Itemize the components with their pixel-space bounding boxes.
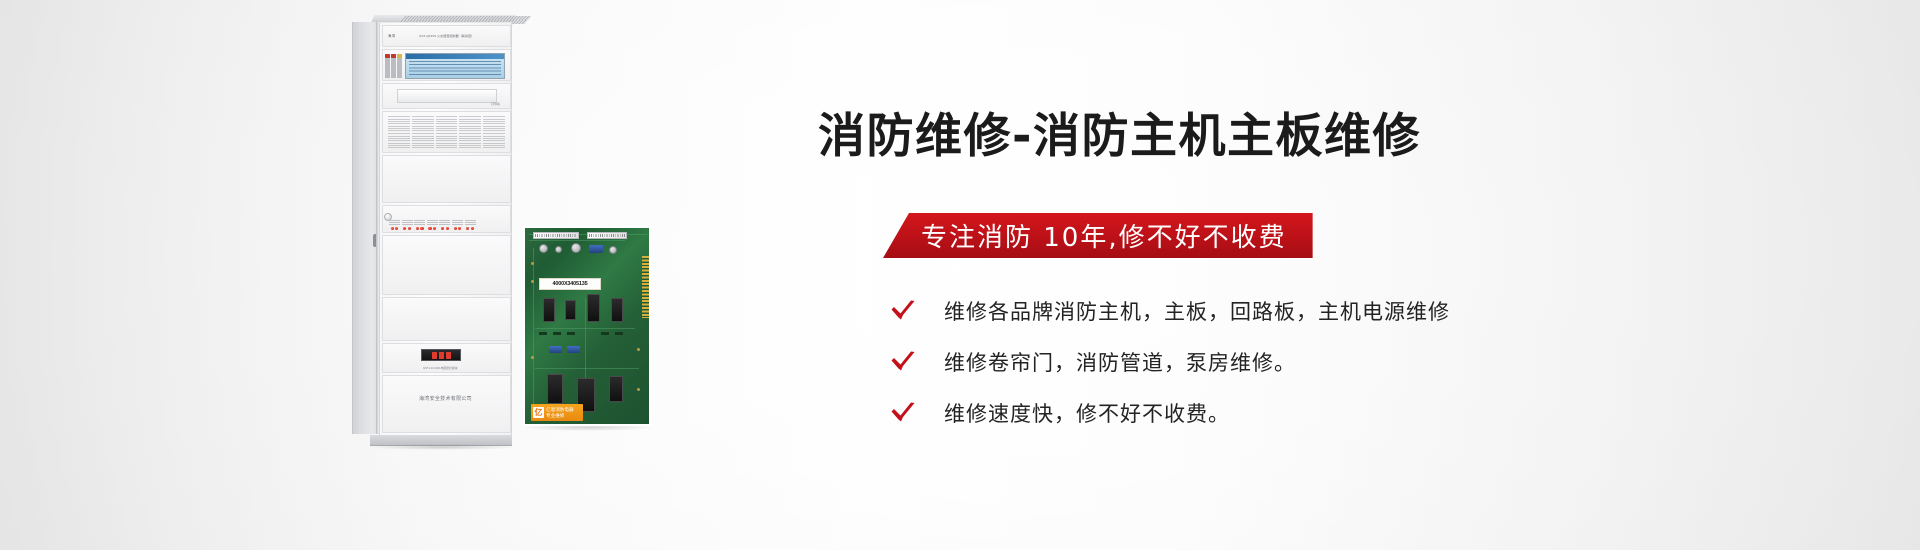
led-group: [439, 220, 450, 230]
cabinet-brand-module: 海湾 GST-QKP01 火灾报警控制器（联动型）: [382, 25, 511, 47]
cabinet-led-indicator-module: [382, 205, 511, 233]
fire-alarm-mainboard-image: 4000X3405135 亿 亿恩消防电器 专业维修: [523, 226, 651, 426]
led-lamp: [416, 227, 419, 230]
pcb-trace: [533, 248, 534, 408]
cabinet-blank-module: [382, 235, 511, 295]
feature-list: 维修各品牌消防主机，主板，回路板，主机电源维修 维修卷帘门，消防管道，泵房维修。…: [890, 296, 1650, 428]
zone-row: [412, 126, 434, 128]
led-pair: [428, 227, 436, 230]
led-group-label: [427, 220, 438, 226]
page-title: 消防维修-消防主机主板维修: [818, 97, 1421, 166]
keypad-key: [391, 70, 396, 74]
pcb-ic-chip: [543, 298, 555, 322]
zone-row: [412, 123, 434, 125]
zone-row: [388, 133, 410, 135]
zone-row: [412, 119, 434, 121]
led-lamp: [454, 227, 457, 230]
zone-row: [436, 116, 458, 118]
keypad-key: [391, 62, 396, 66]
pcb-blue-capacitor: [589, 245, 603, 253]
pcb-solder-pad: [531, 280, 534, 283]
digit-segment: [446, 352, 451, 359]
list-item-label: 维修卷帘门，消防管道，泵房维修。: [944, 347, 1296, 377]
zone-row: [459, 130, 481, 132]
led-indicator-row: [389, 210, 506, 230]
power-module-label: GST-LD-KZ01电源监控模块: [423, 366, 458, 370]
pcb-blue-capacitor: [567, 346, 580, 353]
zone-row: [459, 123, 481, 125]
zone-row: [459, 143, 481, 145]
pcb-resistor: [601, 332, 609, 335]
zone-row: [459, 116, 481, 118]
keypad-key: [391, 74, 396, 78]
zone-row: [459, 126, 481, 128]
led-group: [414, 220, 425, 230]
led-group: [402, 220, 413, 230]
pcb-resistor: [539, 332, 547, 335]
pcb-solder-pad: [637, 388, 640, 391]
cabinet-zone-module: [382, 111, 511, 153]
zone-row: [459, 119, 481, 121]
zone-row: [436, 147, 458, 149]
pcb-capacitor: [539, 244, 548, 253]
cabinet-printer-module: 打印机: [382, 83, 511, 109]
fire-alarm-control-cabinet-image: 海湾 GST-QKP01 火灾报警控制器（联动型）: [352, 14, 512, 444]
pcb-solder-pad: [531, 262, 534, 265]
led-lamp: [458, 227, 461, 230]
cabinet-blank-module: [382, 297, 511, 341]
zone-row: [459, 147, 481, 149]
led-pair: [416, 227, 424, 230]
led-lamp: [391, 227, 394, 230]
led-group: [452, 220, 463, 230]
zone-row: [483, 147, 505, 149]
led-group-label: [414, 220, 425, 226]
led-group-label: [439, 220, 450, 226]
zone-row: [388, 130, 410, 132]
zone-row: [483, 130, 505, 132]
keypad-key: [397, 58, 402, 62]
keypad-key: [397, 54, 402, 58]
zone-row: [436, 119, 458, 121]
list-item: 维修速度快，修不好不收费。: [890, 398, 1650, 428]
tagline-ribbon: 专注消防 10年,修不好不收费: [883, 213, 1313, 258]
promo-banner: 海湾 GST-QKP01 火灾报警控制器（联动型）: [0, 0, 1920, 550]
zone-row: [412, 130, 434, 132]
pcb-blue-capacitor: [549, 346, 562, 353]
led-lamp: [420, 227, 423, 230]
zone-row: [436, 140, 458, 142]
pcb-substrate: 4000X3405135 亿 亿恩消防电器 专业维修: [525, 228, 649, 424]
led-group-label: [402, 220, 413, 226]
zone-column: [459, 116, 481, 149]
led-lamp: [433, 227, 436, 230]
list-item-label: 维修速度快，修不好不收费。: [944, 398, 1230, 428]
cabinet-blank-module: [382, 155, 511, 203]
zone-row: [483, 126, 505, 128]
ribbon-text: 专注消防 10年,修不好不收费: [921, 217, 1287, 254]
zone-row: [436, 126, 458, 128]
pcb-capacitor: [555, 246, 562, 253]
zone-row: [459, 133, 481, 135]
keypad-key: [397, 74, 402, 78]
pcb-pin-header: [533, 232, 579, 239]
cabinet-front-panel: 海湾 GST-QKP01 火灾报警控制器（联动型）: [379, 22, 512, 437]
pcb-ic-chip: [587, 294, 600, 322]
digit-segment: [439, 352, 444, 359]
led-group: [465, 220, 476, 230]
zone-row: [483, 119, 505, 121]
printer-label: 打印机: [491, 102, 500, 106]
led-lamp: [395, 227, 398, 230]
zone-row: [483, 140, 505, 142]
zone-row: [483, 123, 505, 125]
zone-column: [483, 116, 505, 149]
zone-row: [388, 116, 410, 118]
check-icon: [890, 402, 916, 424]
led-lamp: [471, 227, 474, 230]
zone-row: [483, 133, 505, 135]
zone-row: [412, 136, 434, 138]
led-pair: [466, 227, 474, 230]
led-group-label: [452, 220, 463, 226]
cabinet-power-module: GST-LD-KZ01电源监控模块: [382, 343, 511, 373]
printer-paper-slot: [397, 89, 497, 103]
zone-column: [412, 116, 434, 149]
zone-row: [412, 140, 434, 142]
led-group-label: [465, 220, 476, 226]
cabinet-display-module: [382, 49, 511, 81]
pcb-resistor: [553, 332, 561, 335]
pcb-gold-finger-edge: [642, 256, 649, 318]
power-digital-display: [421, 349, 461, 361]
pcb-solder-pad: [531, 356, 534, 359]
pcb-trace: [535, 328, 635, 329]
led-pair: [403, 227, 411, 230]
led-lamp: [403, 227, 406, 230]
lcd-title-bar: [406, 54, 504, 59]
zone-row: [436, 143, 458, 145]
check-icon: [890, 351, 916, 373]
keypad-key: [385, 66, 390, 70]
keypad-key: [391, 54, 396, 58]
pcb-brand-sticker: 亿 亿恩消防电器 专业维修: [531, 404, 583, 421]
zone-row: [436, 133, 458, 135]
keypad-key: [397, 66, 402, 70]
led-pair: [454, 227, 462, 230]
zone-row: [388, 123, 410, 125]
zone-row: [412, 133, 434, 135]
keypad-key: [385, 62, 390, 66]
cabinet-lcd-screen: [405, 53, 505, 79]
pcb-ic-chip: [611, 298, 623, 322]
led-lamp: [408, 227, 411, 230]
zone-row: [436, 130, 458, 132]
pcb-brand-mark: 亿: [533, 407, 544, 418]
pcb-ic-chip: [565, 300, 576, 320]
zone-row: [388, 136, 410, 138]
zone-column: [436, 116, 458, 149]
zone-row: [436, 136, 458, 138]
zone-row: [388, 140, 410, 142]
pcb-capacitor: [571, 243, 581, 253]
keypad-key: [397, 62, 402, 66]
led-group: [389, 220, 400, 230]
zone-row: [412, 116, 434, 118]
keypad-key: [385, 74, 390, 78]
list-item-label: 维修各品牌消防主机，主板，回路板，主机电源维修: [944, 296, 1450, 326]
pcb-trace: [535, 368, 639, 369]
pcb-trace: [529, 240, 625, 241]
list-item: 维修各品牌消防主机，主板，回路板，主机电源维修: [890, 296, 1650, 326]
pcb-ic-chip: [609, 376, 623, 402]
digit-segment: [432, 352, 437, 359]
zone-row: [388, 143, 410, 145]
zone-row: [388, 119, 410, 121]
led-group: [427, 220, 438, 230]
zone-row: [412, 143, 434, 145]
zone-row: [436, 123, 458, 125]
zone-indicator-grid: [388, 116, 505, 148]
pcb-capacitor: [609, 246, 617, 254]
lcd-text-rows: [409, 61, 501, 76]
keypad-key: [391, 66, 396, 70]
led-lamp: [446, 227, 449, 230]
keypad-key: [385, 70, 390, 74]
zone-row: [483, 116, 505, 118]
cabinet-brand-label: 海湾: [388, 33, 395, 38]
zone-row: [459, 140, 481, 142]
zone-row: [388, 147, 410, 149]
keypad-key: [397, 70, 402, 74]
zone-row: [483, 136, 505, 138]
cabinet-manufacturer-label: 海湾安全技术有限公司: [380, 395, 511, 402]
cabinet-blank-module: [382, 375, 511, 433]
pcb-brand-text: 亿恩消防电器 专业维修: [546, 407, 574, 417]
led-lamp: [466, 227, 469, 230]
zone-row: [412, 147, 434, 149]
cabinet-keypad: [385, 54, 402, 78]
list-item: 维修卷帘门，消防管道，泵房维修。: [890, 347, 1650, 377]
zone-row: [388, 126, 410, 128]
led-pair: [441, 227, 449, 230]
pcb-ic-chip: [547, 374, 563, 404]
led-lamp: [441, 227, 444, 230]
zone-column: [388, 116, 410, 149]
pcb-brand-line2: 专业维修: [546, 413, 564, 418]
pcb-resistor: [615, 332, 623, 335]
keypad-key: [385, 58, 390, 62]
keypad-key: [391, 58, 396, 62]
led-lamp: [428, 227, 431, 230]
pcb-solder-pad: [637, 348, 640, 351]
pcb-pin-header: [587, 232, 627, 239]
led-group-label: [389, 220, 400, 226]
pcb-part-number-label: 4000X3405135: [539, 278, 601, 290]
led-pair: [391, 227, 399, 230]
cabinet-model-label: GST-QKP01 火灾报警控制器（联动型）: [419, 33, 474, 38]
keypad-key: [385, 54, 390, 58]
pcb-resistor: [567, 332, 575, 335]
zone-row: [459, 136, 481, 138]
cabinet-ground-shadow: [368, 444, 516, 450]
zone-row: [483, 143, 505, 145]
check-icon: [890, 300, 916, 322]
